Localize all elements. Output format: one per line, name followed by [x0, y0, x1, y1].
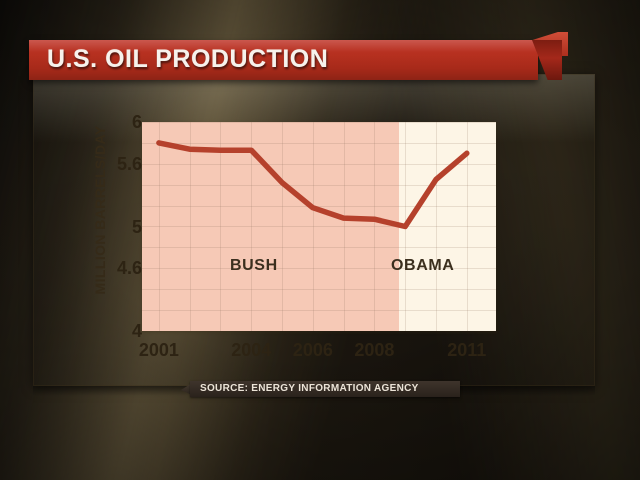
y-axis-tick-label: 5.6 — [90, 154, 142, 175]
screen: MILLION BARRELS/DAY 65.654.64 BUSH OBAMA… — [0, 0, 640, 480]
page-title: U.S. OIL PRODUCTION — [47, 45, 328, 74]
x-axis-tick-label: 2006 — [293, 340, 333, 361]
x-axis-tick-label: 2004 — [231, 340, 271, 361]
x-axis-tick-label: 2011 — [447, 340, 486, 361]
plot-area: BUSH OBAMA — [142, 122, 496, 331]
source-text: SOURCE: ENERGY INFORMATION AGENCY — [200, 383, 419, 394]
x-axis-tick-label: 2001 — [139, 340, 179, 361]
source-bar: SOURCE: ENERGY INFORMATION AGENCY — [190, 381, 460, 397]
y-axis-tick-label: 4 — [90, 321, 142, 342]
y-axis-tick-label: 4.6 — [90, 258, 142, 279]
chart: MILLION BARRELS/DAY 65.654.64 BUSH OBAMA… — [33, 74, 595, 386]
x-axis-tick-label: 2008 — [354, 340, 394, 361]
y-axis-ticks: 65.654.64 — [90, 74, 142, 386]
y-axis-tick-label: 5 — [90, 217, 142, 238]
title-banner: U.S. OIL PRODUCTION — [29, 40, 559, 80]
oil-production-line — [142, 122, 496, 331]
y-axis-tick-label: 6 — [90, 112, 142, 133]
